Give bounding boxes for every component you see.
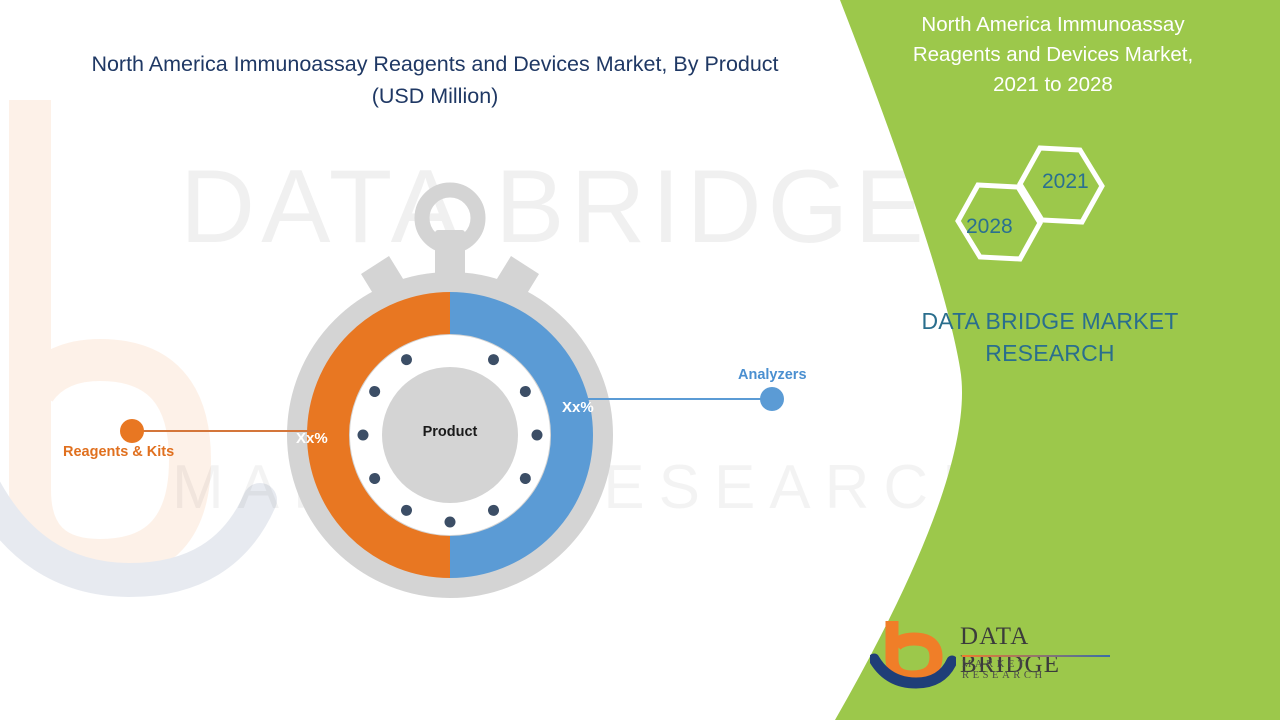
data-bridge-mark-icon	[870, 617, 956, 689]
page-title: North America Immunoassay Reagents and D…	[40, 48, 830, 112]
brand-panel-title: North America Immunoassay Reagents and D…	[838, 10, 1268, 100]
brand-name-line-1: DATA BRIDGE MARKET	[830, 305, 1270, 337]
page-title-line-1: North America Immunoassay Reagents and D…	[40, 48, 830, 80]
watermark-b-logo-icon	[0, 60, 290, 620]
brand-name-line-2: RESEARCH	[830, 337, 1270, 369]
brand-panel-content: North America Immunoassay Reagents and D…	[810, 0, 1280, 720]
callout-marker-reagents-kits[interactable]	[120, 419, 144, 443]
infographic-page: DATA BRIDGE MARKET RESEARCH North Americ…	[0, 0, 1280, 720]
hexagon-2021-label: 2021	[1042, 170, 1089, 194]
callout-label-analyzers: Analyzers	[738, 367, 807, 383]
donut-chart-svg	[265, 170, 635, 610]
brand-name: DATA BRIDGE MARKET RESEARCH	[830, 305, 1270, 369]
callout-marker-analyzers[interactable]	[760, 387, 784, 411]
donut-chart	[265, 170, 635, 610]
donut-center-label: Product	[400, 424, 500, 440]
company-logo[interactable]: DATA BRIDGE MARKET RESEARCH	[870, 615, 1110, 695]
brand-panel: North America Immunoassay Reagents and D…	[810, 0, 1280, 720]
brand-panel-title-line-1: North America Immunoassay	[838, 10, 1268, 40]
value-label-analyzers: Xx%	[562, 399, 594, 416]
brand-panel-title-line-3: 2021 to 2028	[838, 70, 1268, 100]
logo-subtitle: MARKET RESEARCH	[962, 659, 1110, 681]
logo-divider	[962, 655, 1110, 657]
value-label-reagents-kits: Xx%	[296, 430, 328, 447]
callout-label-reagents-kits: Reagents & Kits	[63, 444, 174, 460]
brand-panel-title-line-2: Reagents and Devices Market,	[838, 40, 1268, 70]
hexagon-2028-label: 2028	[966, 215, 1013, 239]
page-title-line-2: (USD Million)	[40, 80, 830, 112]
year-hexagons: 2021 2028	[940, 140, 1140, 290]
